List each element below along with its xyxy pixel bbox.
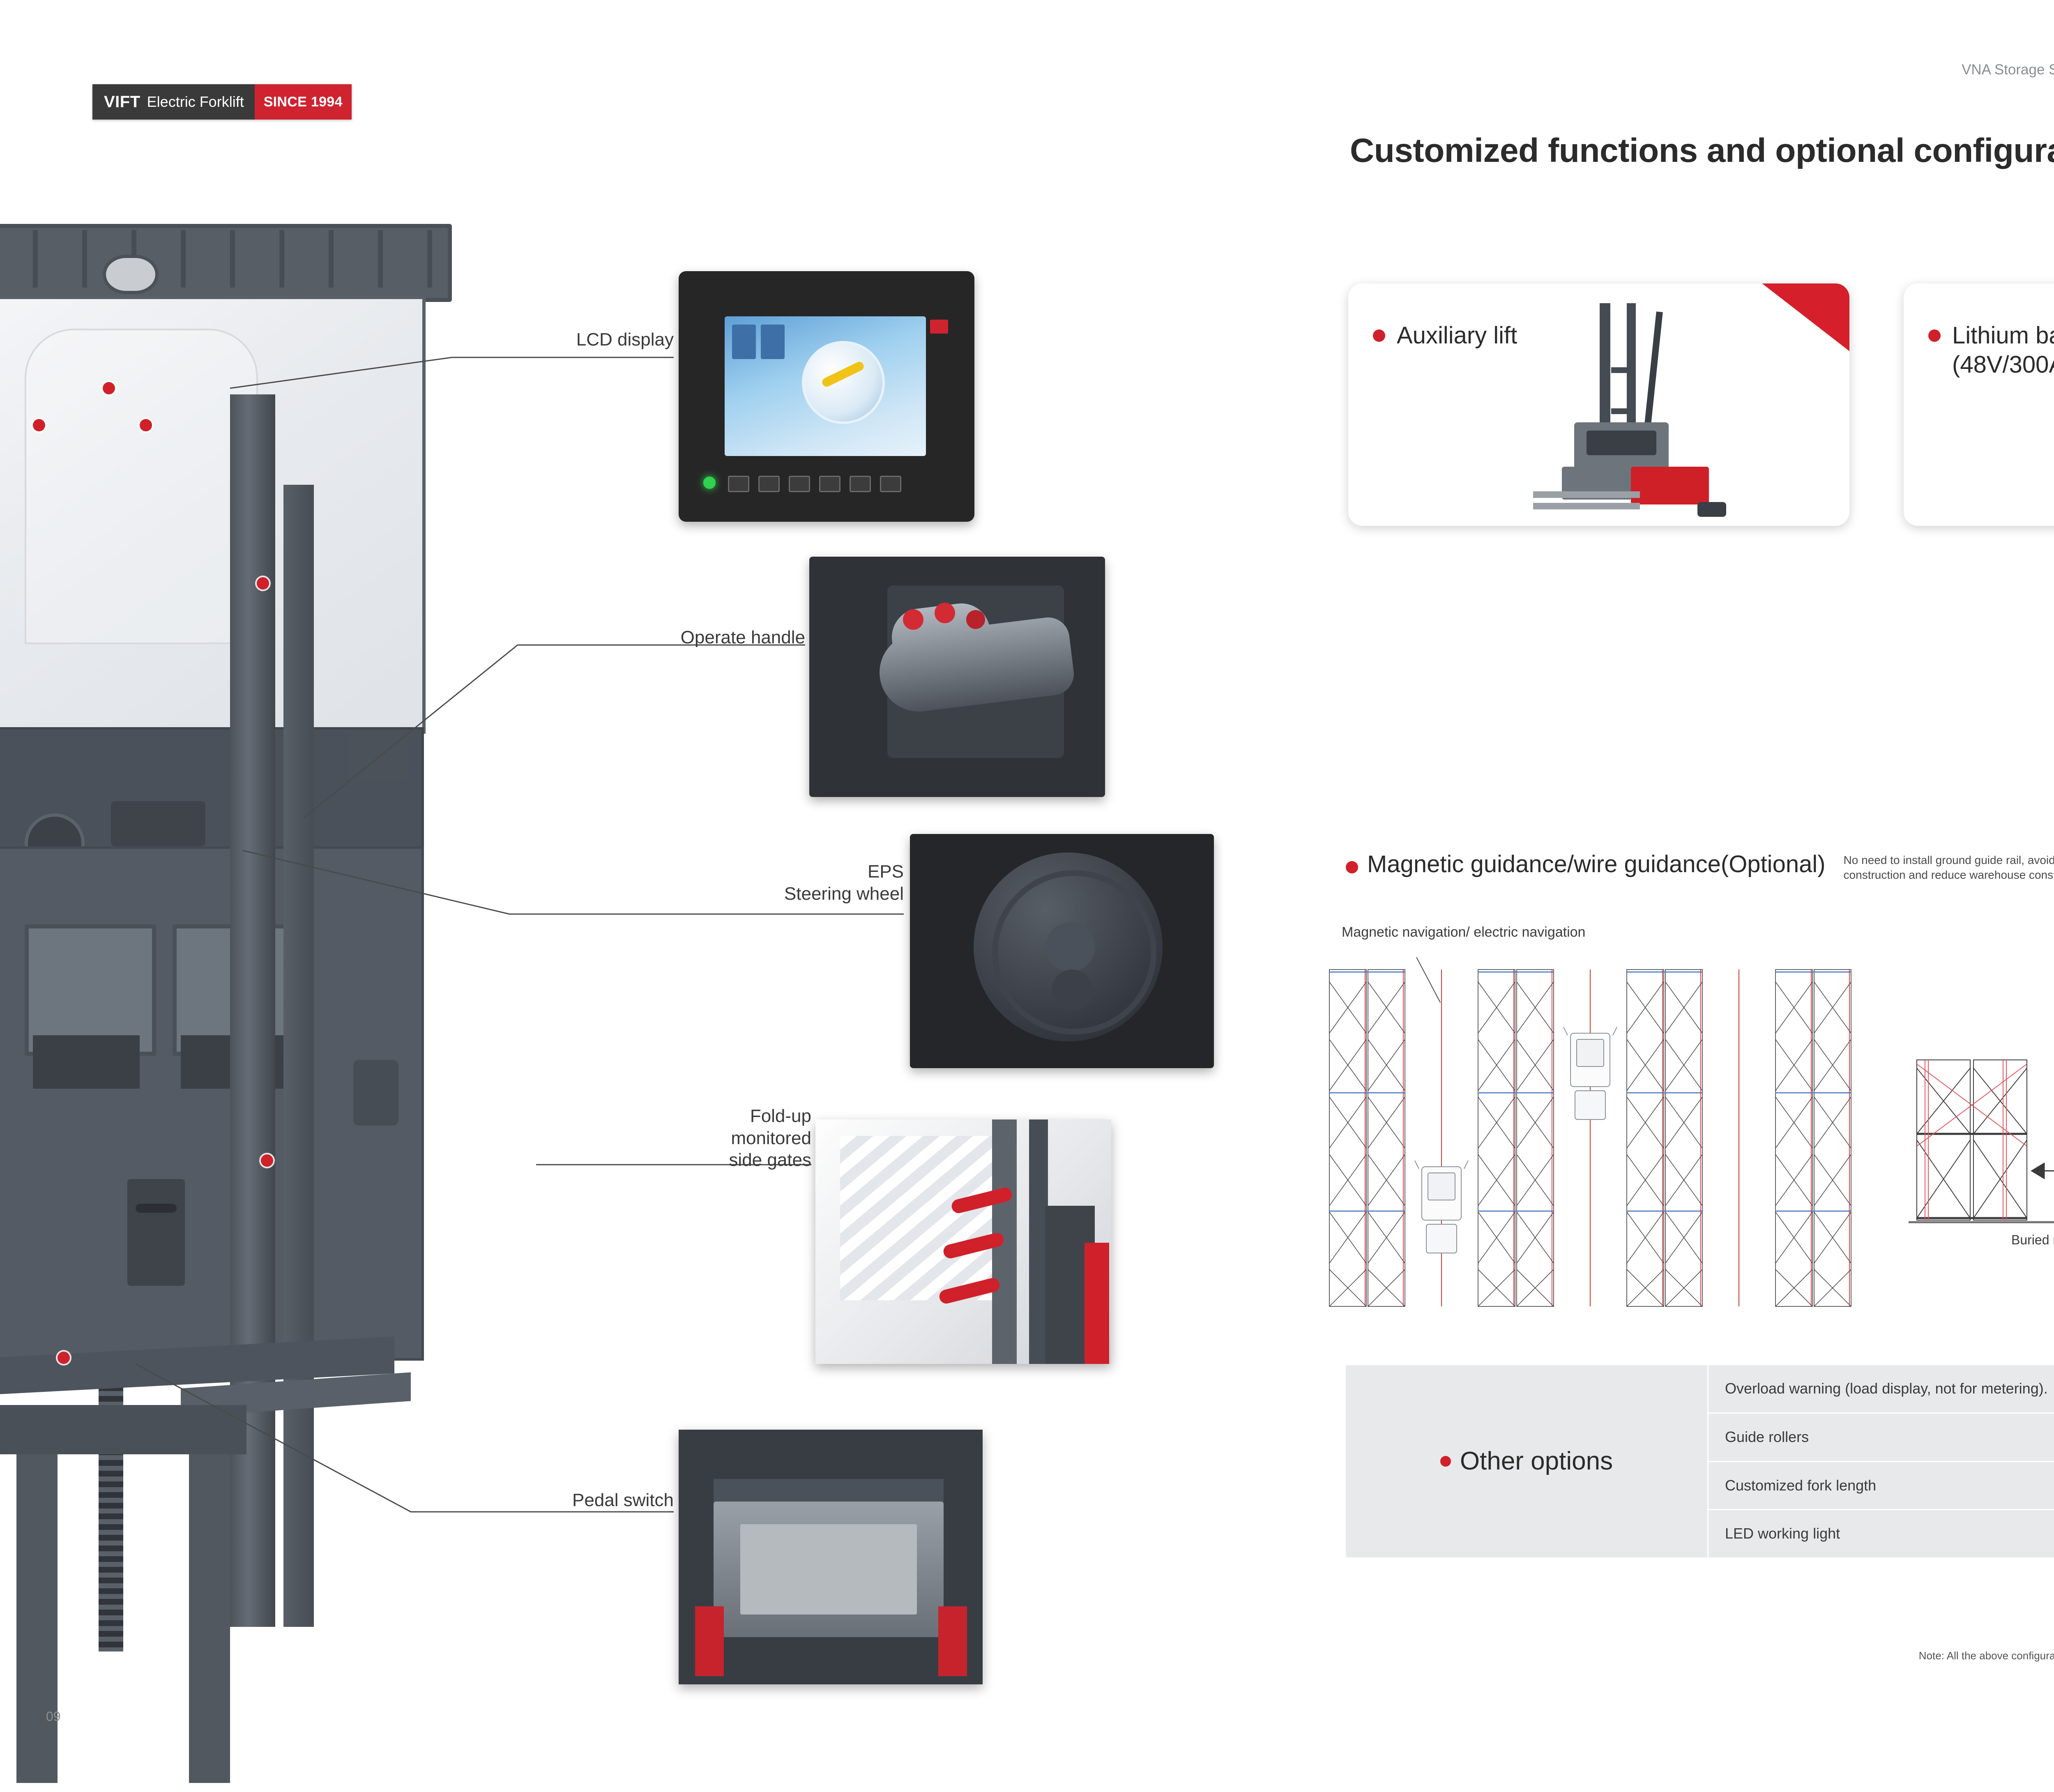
art-rear-wheel [1697, 502, 1726, 517]
lcd-button-6[interactable] [880, 476, 901, 492]
hotspot-side-gates[interactable] [261, 1154, 273, 1167]
gates-red-body [1085, 1243, 1109, 1364]
guidance-centre-lines [1441, 970, 1739, 1306]
art-mast-crossbar-2 [1611, 367, 1628, 373]
option-card-label-group: Lithium battery (48V/300Ah) [1928, 321, 2054, 380]
rack-block-2 [1478, 970, 1554, 1306]
elevation-rack-1 [1917, 1060, 2027, 1220]
machine-mast-secondary [283, 485, 314, 1627]
photo-operate-handle [809, 557, 1105, 797]
lcd-button-1[interactable] [728, 476, 749, 492]
table-cell-col1: Overload warning (load display, not for … [1708, 1365, 2054, 1413]
callout-eps-steering-wheel: EPS Steering wheel [674, 861, 904, 905]
photo-pedal-switch [679, 1430, 983, 1684]
other-options-title: Other options [1460, 1445, 1613, 1478]
hotspot-steering-wheel[interactable] [257, 577, 269, 590]
machine-leg-right [189, 1454, 230, 1783]
lcd-button-4[interactable] [819, 476, 840, 492]
magnetic-guidance-heading-row: Magnetic guidance/wire guidance(Optional… [1346, 850, 2054, 882]
hotspot-lcd-display[interactable] [103, 382, 115, 394]
hotspot-left-console[interactable] [33, 419, 45, 431]
art-fork-tine-2 [1533, 491, 1640, 498]
logo-brand: VIFT [104, 93, 140, 111]
rack-block-4 [1775, 970, 1851, 1306]
rack-block-3 [1627, 970, 1702, 1306]
photo-eps-steering-wheel [910, 834, 1214, 1068]
machine-work-light [103, 255, 159, 294]
option-card-auxiliary-lift[interactable]: Auxiliary lift option [1348, 283, 1849, 526]
page-number-left: 09 [46, 1709, 61, 1724]
logo-product: Electric Forklift [147, 93, 244, 111]
rack-block-1 [1329, 970, 1405, 1306]
machine-slot-left [33, 1035, 140, 1089]
logo-since: SINCE 1994 [264, 94, 343, 110]
machine-door-handle [136, 1204, 177, 1213]
dimension-arrow-left [2032, 1163, 2054, 1178]
table-cell-col1: Guide rollers [1708, 1413, 2054, 1461]
header-eyebrow: VNA Storage Solutions · Long Materials H… [1962, 62, 2054, 78]
machine-control-lever [111, 801, 205, 846]
lcd-tile-2 [761, 325, 785, 359]
pedal-red-right [938, 1606, 967, 1676]
option-ribbon: option [1734, 283, 1849, 398]
legend-buried-magnetic-strip: Buried magnetic strip [2011, 1232, 2054, 1248]
art-mast-crossbar-1 [1611, 408, 1628, 414]
machine-base [0, 1405, 246, 1454]
lcd-button-5[interactable] [850, 476, 871, 492]
brochure-spread: VIFT Electric Forklift SINCE 1994 [0, 0, 2054, 1792]
bullet-dot-icon [1440, 1456, 1451, 1467]
bullet-dot-icon [1373, 329, 1385, 342]
handle-red-button-2 [935, 603, 955, 623]
pedal-switch-plate [740, 1524, 917, 1615]
steering-wheel-knob [1052, 970, 1093, 1011]
steering-wheel-hub [1045, 922, 1095, 972]
hotspot-pedal-switch[interactable] [58, 1352, 70, 1364]
pedal-red-left [695, 1606, 724, 1676]
logo-dark-part: VIFT Electric Forklift [92, 84, 255, 120]
machine-canopy-bars [0, 230, 435, 288]
bullet-dot-icon [1928, 329, 1941, 342]
machine-leg-left [16, 1454, 58, 1783]
forklift-plan-bottom [1415, 1161, 1468, 1253]
warehouse-plan-diagram [1325, 957, 1900, 1319]
lcd-tile-1 [732, 325, 756, 359]
table-cell-col1: LED working light [1708, 1510, 2054, 1558]
brand-logo: VIFT Electric Forklift SINCE 1994 [92, 84, 352, 120]
logo-red-part: SINCE 1994 [255, 84, 352, 120]
handle-red-button-1 [903, 609, 923, 630]
table-cell-col1: Customized fork length [1708, 1461, 2054, 1510]
handle-red-button-3 [966, 610, 985, 629]
option-card-label: Lithium battery (48V/300Ah) [1952, 321, 2054, 380]
navigation-label-leader [1416, 957, 1440, 1002]
other-options-title-cell: Other options [1346, 1365, 1708, 1558]
art-cab-window [1587, 431, 1656, 455]
lcd-button-2[interactable] [758, 476, 780, 492]
callout-lcd-display: LCD display [444, 329, 674, 351]
magnetic-guidance-heading: Magnetic guidance/wire guidance(Optional… [1367, 850, 1826, 878]
left-page: VIFT Electric Forklift SINCE 1994 [0, 0, 1268, 1792]
option-card-lithium-battery[interactable]: Lithium battery (48V/300Ah) option [1904, 283, 2054, 526]
art-red-counterweight [1631, 467, 1709, 504]
photo-foldup-side-gates [815, 1119, 1111, 1364]
table-row: Other options Overload warning (load dis… [1346, 1365, 2054, 1413]
magnetic-guidance-note: No need to install ground guide rail, av… [1844, 853, 2054, 882]
table-footnote: Note: All the above configurations may i… [1919, 1649, 2054, 1662]
forklift-plan-top [1564, 1027, 1617, 1119]
lcd-power-led [703, 477, 716, 489]
other-options-table: Other options Overload warning (load dis… [1346, 1364, 2054, 1559]
option-card-label-group: Auxiliary lift [1373, 321, 1517, 350]
callout-pedal-switch: Pedal switch [444, 1489, 674, 1511]
hotspot-operate-handle[interactable] [140, 419, 152, 431]
callout-operate-handle: Operate handle [575, 627, 805, 649]
machine-mirror-upper [349, 731, 407, 781]
art-fork-tine-1 [1533, 503, 1640, 509]
page-title: Customized functions and optional config… [1350, 131, 2054, 170]
machine-access-door [127, 1179, 185, 1286]
right-page: VNA Storage Solutions · Long Materials H… [1268, 0, 2054, 1792]
navigation-diagram-label: Magnetic navigation/ electric navigation [1342, 924, 1585, 940]
option-card-label: Auxiliary lift [1397, 321, 1517, 350]
machine-cab-inner-outline [25, 329, 258, 644]
photo-lcd-display [679, 271, 974, 522]
bullet-dot-icon [1346, 861, 1358, 873]
callout-foldup-side-gates: Fold-up monitored side gates [581, 1105, 811, 1171]
lcd-button-3[interactable] [789, 476, 810, 492]
machine-mirror-lower [353, 1060, 398, 1126]
lcd-red-indicator [930, 320, 948, 334]
lcd-gauge-dial [802, 341, 885, 424]
lcd-button-row[interactable] [728, 473, 925, 495]
gates-backdrop-stripes [840, 1136, 1013, 1300]
